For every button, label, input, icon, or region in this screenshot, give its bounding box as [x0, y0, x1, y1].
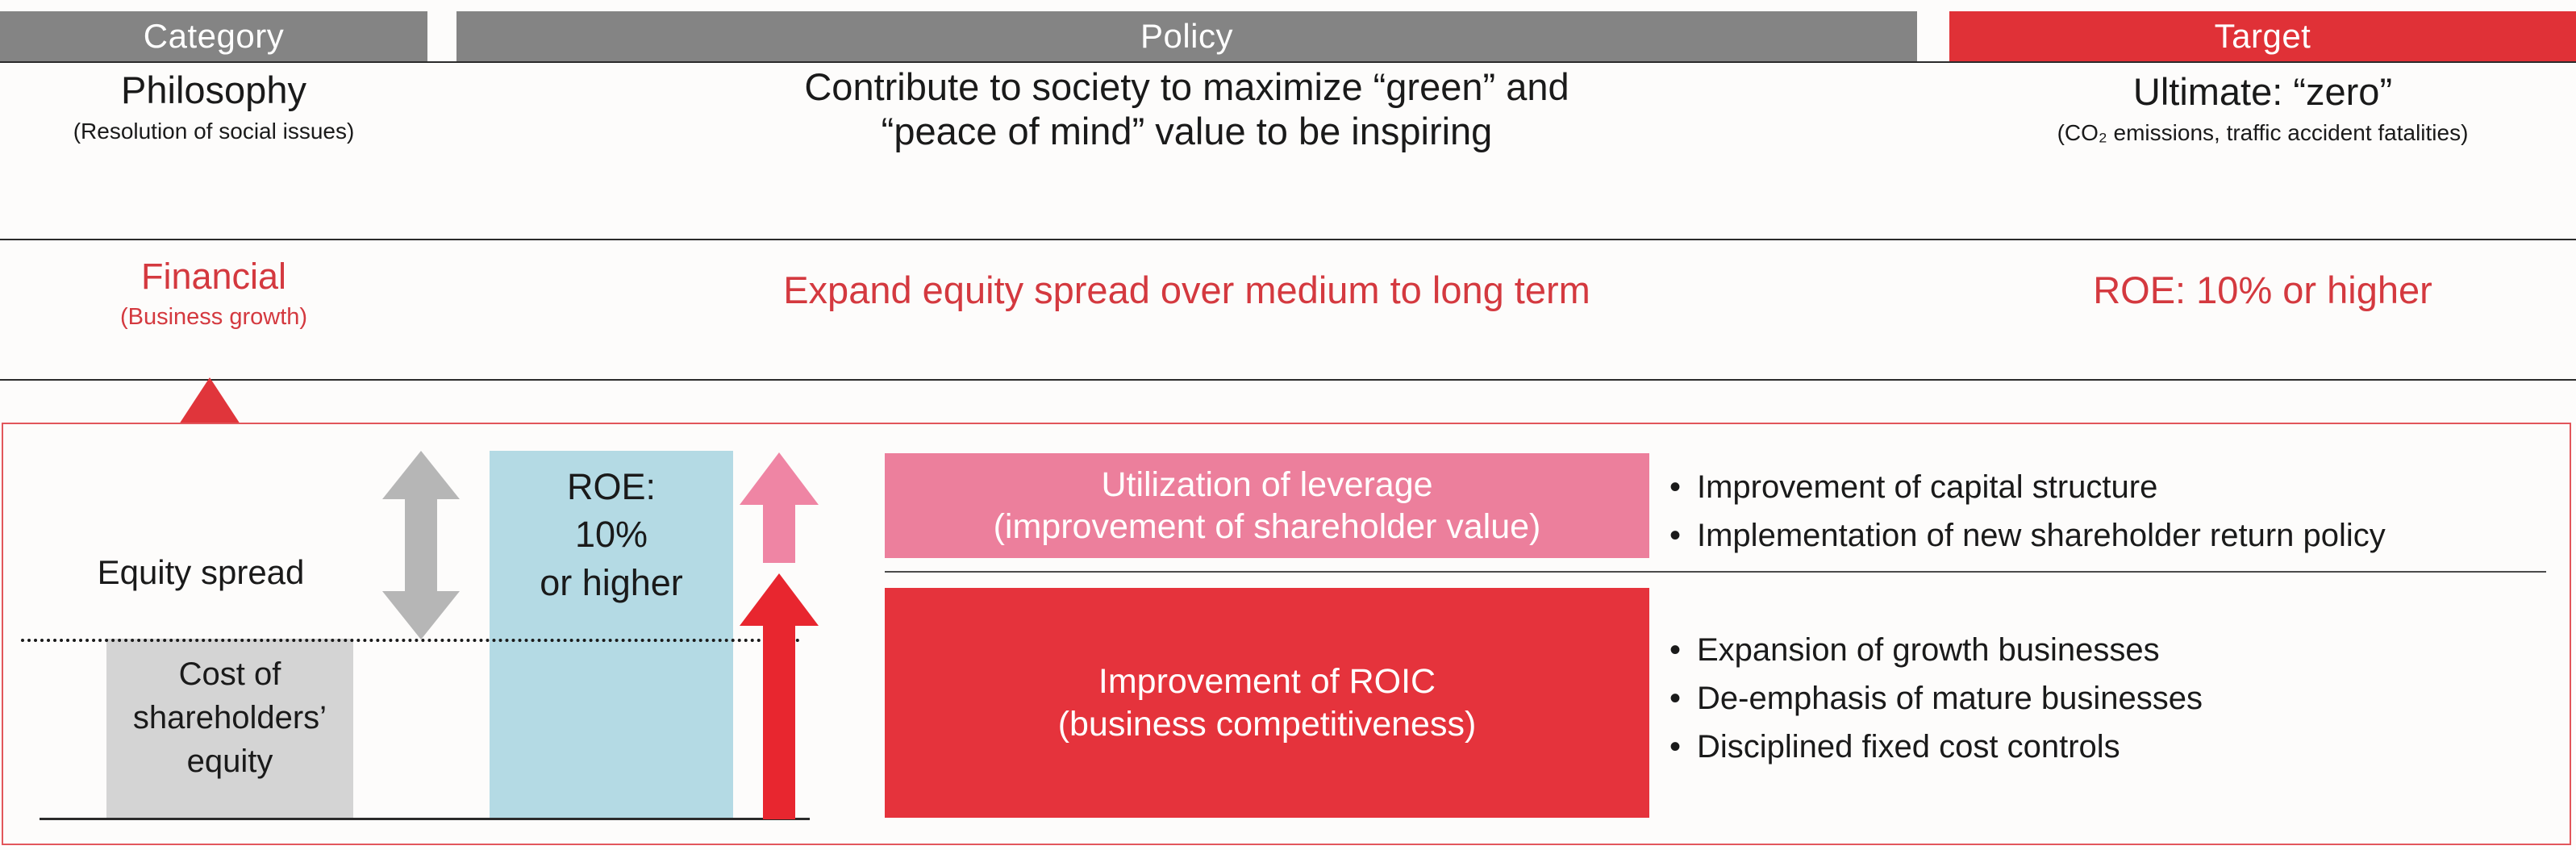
list-item: De-emphasis of mature businesses	[1669, 674, 2549, 723]
philosophy-target-cell: Ultimate: “zero” (CO₂ emissions, traffic…	[1949, 69, 2576, 147]
financial-category-title: Financial	[0, 255, 427, 298]
philosophy-category-cell: Philosophy (Resolution of social issues)	[0, 68, 427, 145]
list-item: Expansion of growth businesses	[1669, 626, 2549, 674]
list-item: Improvement of capital structure	[1669, 463, 2549, 511]
philosophy-policy-line2: “peace of mind” value to be inspiring	[456, 109, 1917, 153]
financial-category-subtitle: (Business growth)	[0, 302, 427, 331]
divider-strategy	[885, 571, 2546, 573]
philosophy-policy-cell: Contribute to society to maximize “green…	[456, 65, 1917, 154]
divider-middle	[0, 239, 2576, 240]
box-utilization-of-leverage[interactable]: Utilization of leverage (improvement of …	[885, 453, 1649, 558]
list-item: Disciplined fixed cost controls	[1669, 723, 2549, 771]
financial-target-cell: ROE: 10% or higher	[1949, 268, 2576, 312]
roic-title: Improvement of ROIC	[1098, 660, 1436, 702]
triangle-up-icon	[179, 377, 240, 424]
financial-category-cell: Financial (Business growth)	[0, 255, 427, 331]
philosophy-target-subtitle: (CO₂ emissions, traffic accident fatalit…	[1949, 119, 2576, 147]
philosophy-category-title: Philosophy	[0, 68, 427, 112]
financial-policy-cell: Expand equity spread over medium to long…	[456, 268, 1917, 312]
financial-target-text: ROE: 10% or higher	[1949, 268, 2576, 312]
header-policy-label: Policy	[1140, 17, 1233, 56]
leverage-title: Utilization of leverage	[1101, 464, 1432, 506]
arrow-up-leverage-icon	[740, 452, 819, 563]
box-improvement-of-roic[interactable]: Improvement of ROIC (business competitiv…	[885, 588, 1649, 818]
roic-bullet-list: Expansion of growth businesses De-emphas…	[1669, 626, 2549, 771]
philosophy-policy-line1: Contribute to society to maximize “green…	[456, 65, 1917, 109]
leverage-subtitle: (improvement of shareholder value)	[994, 506, 1541, 548]
list-item: Implementation of new shareholder return…	[1669, 511, 2549, 560]
chart-arrows-group	[3, 424, 842, 844]
detail-panel: Equity spread ROE: 10% or higher Cost of…	[2, 423, 2571, 845]
header-target: Target	[1949, 11, 2576, 61]
philosophy-category-subtitle: (Resolution of social issues)	[0, 117, 427, 145]
philosophy-target-title: Ultimate: “zero”	[1949, 69, 2576, 114]
leverage-bullet-list: Improvement of capital structure Impleme…	[1669, 463, 2549, 560]
header-category: Category	[0, 11, 427, 61]
header-target-label: Target	[2215, 17, 2311, 56]
double-arrow-equity-spread-icon	[382, 451, 460, 640]
row-financial: Financial (Business growth) Expand equit…	[0, 242, 2576, 377]
row-philosophy: Philosophy (Resolution of social issues)…	[0, 63, 2576, 237]
divider-bottom	[0, 379, 2576, 381]
equity-spread-chart: Equity spread ROE: 10% or higher Cost of…	[3, 424, 842, 844]
financial-policy-text: Expand equity spread over medium to long…	[456, 268, 1917, 312]
header-category-label: Category	[144, 17, 284, 56]
roic-subtitle: (business competitiveness)	[1058, 703, 1477, 745]
arrow-up-roic-icon	[740, 573, 819, 819]
strategy-framework-slide: Category Policy Target Philosophy (Resol…	[0, 0, 2576, 850]
header-policy: Policy	[456, 11, 1917, 61]
